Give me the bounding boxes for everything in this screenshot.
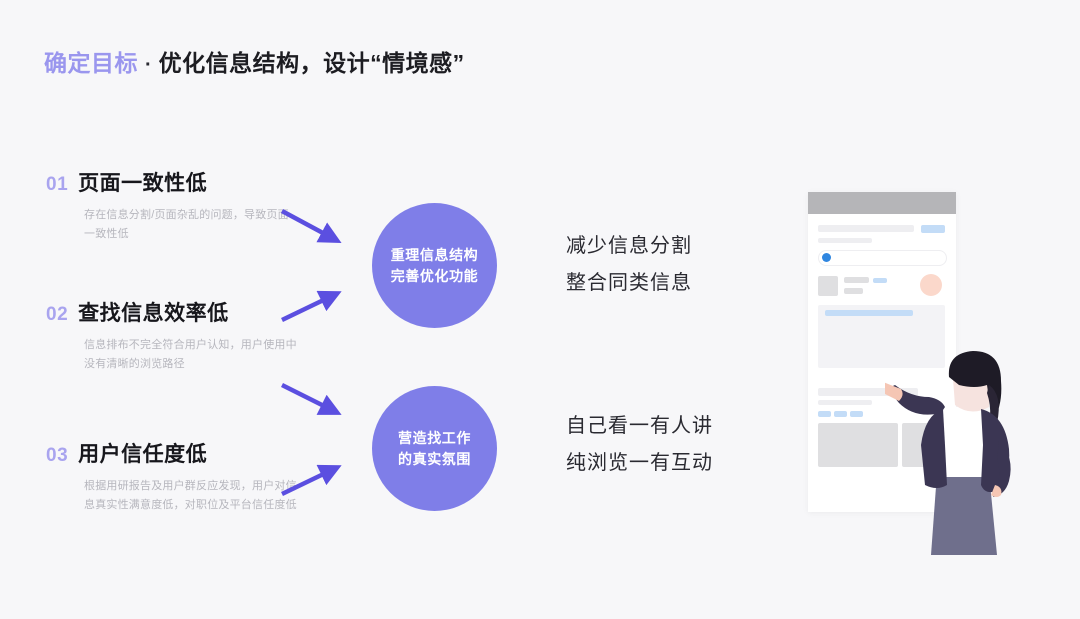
mockup-card-line-1: [844, 277, 869, 283]
mockup-title-line: [818, 225, 914, 232]
issue-item-03: 03 用户信任度低 根据用研报告及用户群反应发现，用户对信息真实性满意度低，对职…: [46, 443, 316, 515]
issue-02-title: 查找信息效率低: [78, 302, 229, 325]
mockup-section-highlight-bar: [825, 310, 913, 316]
mockup-card-thumbnail: [818, 276, 838, 296]
outcome-2-line2: 纯浏览一有互动: [566, 445, 713, 482]
mockup-avatar: [920, 274, 942, 296]
solution-circle-2: 营造找工作 的真实氛围: [372, 386, 497, 511]
person-hand: [885, 377, 903, 401]
mockup-search-bar[interactable]: [818, 250, 947, 266]
mockup-lower-subtitle-line: [818, 400, 872, 405]
page-title-main: 优化信息结构，设计“情境感”: [159, 44, 465, 78]
mockup-top-bar: [808, 192, 956, 214]
issue-01-heading: 01 页面一致性低: [46, 172, 316, 195]
arrow-issue02-to-solution2: [282, 385, 336, 412]
outcome-group-1: 减少信息分割 整合同类信息: [566, 228, 692, 302]
outcome-group-2: 自己看一有人讲 纯浏览一有互动: [566, 408, 713, 482]
solution-circle-1-line1: 重理信息结构: [391, 245, 479, 265]
slide-canvas: 确定目标 · 优化信息结构，设计“情境感” 01 页面一致性低 存在信息分割/页…: [0, 0, 1080, 619]
solution-circle-1: 重理信息结构 完善优化功能: [372, 203, 497, 328]
person-top: [939, 407, 987, 477]
issue-03-description: 根据用研报告及用户群反应发现，用户对信息真实性满意度低，对职位及平台信任度低: [84, 477, 299, 515]
solution-circle-1-line2: 完善优化功能: [391, 266, 479, 286]
mockup-tag-2: [834, 411, 847, 417]
outcome-1-line2: 整合同类信息: [566, 265, 692, 302]
issue-02-number: 02: [46, 305, 68, 324]
outcome-1-line1: 减少信息分割: [566, 228, 692, 265]
issue-item-02: 02 查找信息效率低 信息排布不完全符合用户认知，用户使用中没有清晰的浏览路径: [46, 302, 316, 374]
mockup-search-dot-icon: [822, 253, 831, 262]
issue-03-heading: 03 用户信任度低: [46, 443, 316, 466]
page-title-accent: 确定目标: [44, 44, 138, 78]
mockup-card-line-2: [844, 288, 863, 294]
illustration: [795, 180, 1045, 555]
solution-circle-2-line2: 的真实氛围: [398, 449, 471, 469]
issue-01-number: 01: [46, 175, 68, 194]
mockup-tag-1: [818, 411, 831, 417]
mockup-card-badge: [873, 278, 887, 283]
issue-02-description: 信息排布不完全符合用户认知，用户使用中没有清晰的浏览路径: [84, 336, 299, 374]
outcome-2-line1: 自己看一有人讲: [566, 408, 713, 445]
person-blazer-left: [921, 409, 947, 488]
page-title-separator: ·: [145, 54, 152, 77]
mockup-subtitle-line: [818, 238, 872, 243]
mockup-header-badge: [921, 225, 945, 233]
presenter-figure: [885, 345, 1045, 555]
issue-01-description: 存在信息分割/页面杂乱的问题，导致页面一致性低: [84, 206, 299, 244]
issue-02-heading: 02 查找信息效率低: [46, 302, 316, 325]
solution-circle-2-line1: 营造找工作: [398, 428, 471, 448]
issue-item-01: 01 页面一致性低 存在信息分割/页面杂乱的问题，导致页面一致性低: [46, 172, 316, 244]
page-title: 确定目标 · 优化信息结构，设计“情境感”: [44, 44, 465, 78]
issue-01-title: 页面一致性低: [78, 172, 207, 195]
issue-03-title: 用户信任度低: [78, 443, 207, 466]
mockup-tag-3: [850, 411, 863, 417]
issue-03-number: 03: [46, 446, 68, 465]
